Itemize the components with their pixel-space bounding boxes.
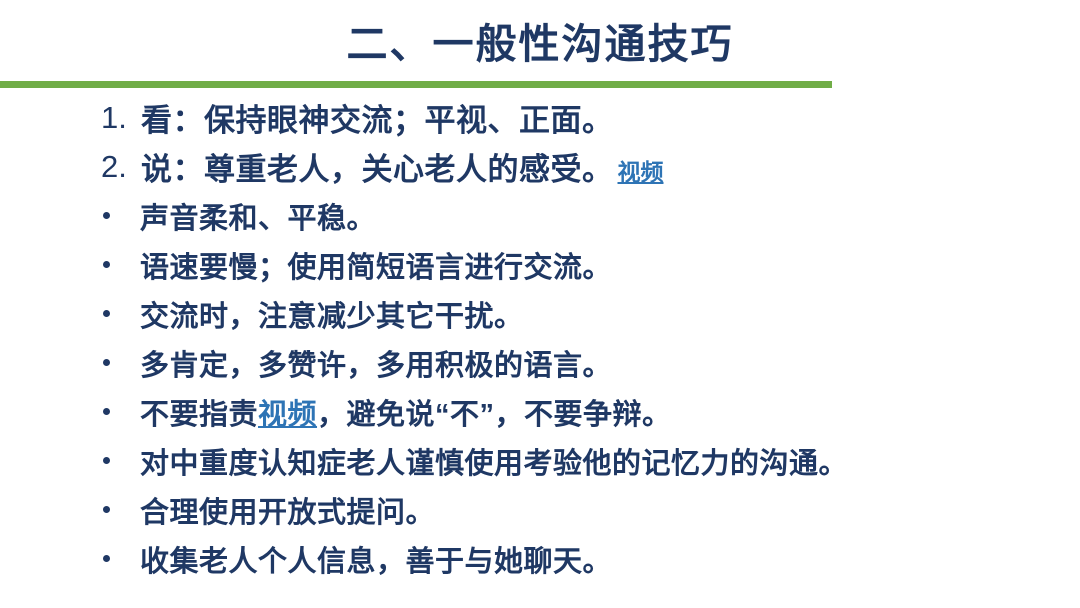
video-link[interactable]: 视频 [258, 399, 317, 431]
list-item-bullet-3: 交流时，注意减少其它干扰。 [0, 289, 1080, 338]
bullet-dot-icon [101, 457, 140, 464]
bullet-dot-icon [101, 261, 140, 268]
list-item-numbered-1: 1. 看：保持眼神交流；平视、正面。 [0, 93, 1080, 142]
bullet-dot-icon [101, 408, 140, 415]
slide-body: 1. 看：保持眼神交流；平视、正面。 2. 说：尊重老人，关心老人的感受。 视频… [0, 93, 1080, 583]
list-item-text: 交流时，注意减少其它干扰。 [140, 293, 524, 335]
slide-root: 二、一般性沟通技巧 1. 看：保持眼神交流；平视、正面。 2. 说：尊重老人，关… [0, 0, 1080, 608]
list-item-text: 合理使用开放式提问。 [140, 489, 435, 531]
list-item-bullet-2: 语速要慢；使用简短语言进行交流。 [0, 240, 1080, 289]
list-item-text: 说：尊重老人，关心老人的感受。 [141, 144, 614, 189]
list-item-bullet-1: 声音柔和、平稳。 [0, 191, 1080, 240]
title-divider-rule [0, 81, 832, 88]
list-item-text: 多肯定，多赞许，多用积极的语言。 [140, 342, 612, 384]
list-marker: 1. [101, 100, 141, 136]
bullet-dot-icon [101, 506, 140, 513]
list-item-bullet-7: 合理使用开放式提问。 [0, 485, 1080, 534]
video-link[interactable]: 视频 [618, 153, 664, 187]
bullet-dot-icon [101, 212, 140, 219]
list-item-text-before: 不要指责 [140, 399, 258, 431]
list-item-bullet-8: 收集老人个人信息，善于与她聊天。 [0, 534, 1080, 583]
list-item-numbered-2: 2. 说：尊重老人，关心老人的感受。 视频 [0, 142, 1080, 191]
list-item-bullet-6: 对中重度认知症老人谨慎使用考验他的记忆力的沟通。 [0, 436, 1080, 485]
bullet-dot-icon [101, 359, 140, 366]
list-item-text: 不要指责视频，避免说“不”，不要争辩。 [140, 391, 672, 433]
list-item-bullet-4: 多肯定，多赞许，多用积极的语言。 [0, 338, 1080, 387]
list-marker: 2. [101, 149, 141, 185]
list-item-text: 声音柔和、平稳。 [140, 195, 376, 237]
list-item-text: 语速要慢；使用简短语言进行交流。 [140, 244, 612, 286]
page-title: 二、一般性沟通技巧 [0, 20, 1080, 69]
bullet-dot-icon [101, 310, 140, 317]
list-item-bullet-5: 不要指责视频，避免说“不”，不要争辩。 [0, 387, 1080, 436]
bullet-dot-icon [101, 555, 140, 562]
list-item-text-after: ，避免说“不”，不要争辩。 [317, 399, 672, 431]
list-item-text: 收集老人个人信息，善于与她聊天。 [140, 538, 612, 580]
list-item-text: 对中重度认知症老人谨慎使用考验他的记忆力的沟通。 [140, 440, 848, 482]
list-item-text: 看：保持眼神交流；平视、正面。 [141, 95, 614, 140]
